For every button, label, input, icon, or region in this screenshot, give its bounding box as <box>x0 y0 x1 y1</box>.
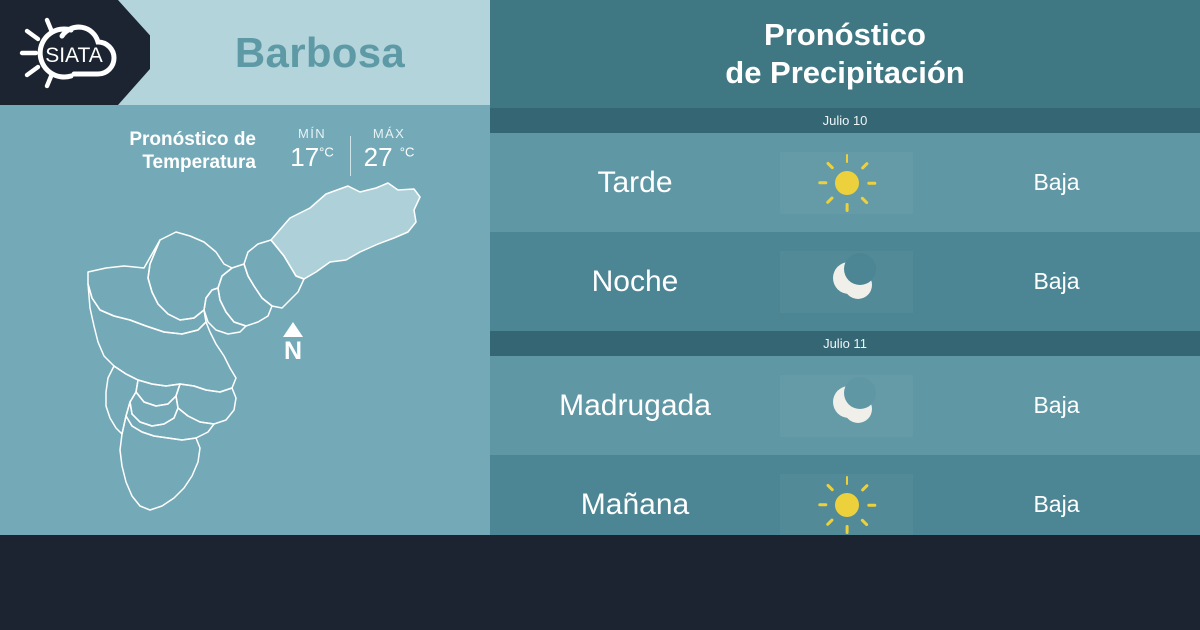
left-header: SIATA Barbosa <box>0 0 490 105</box>
precipitation-panel: Pronóstico de Precipitación Julio 10 Tar… <box>490 0 1200 535</box>
siata-logo-badge: SIATA <box>0 0 150 105</box>
map-region-sabaneta <box>130 392 178 426</box>
aburra-valley-map <box>58 180 458 530</box>
temperature-values: MÍN 17°C MÁX 27 °C <box>276 124 425 176</box>
forecast-row: Madrugada Baja <box>490 356 1200 455</box>
map-region-medellin <box>88 284 236 392</box>
north-label: N <box>284 338 302 364</box>
forecast-title-line2: de Precipitación <box>725 54 964 92</box>
forecast-level: Baja <box>913 169 1200 196</box>
sun-cloud-icon: SIATA <box>14 12 132 94</box>
footer: @siatamedellin www.siata.gov.co Con el a… <box>0 535 1200 630</box>
weather-infographic: SIATA Barbosa Pronóstico de Temperatura … <box>0 0 1200 630</box>
temperature-summary: Pronóstico de Temperatura MÍN 17°C MÁX 2… <box>60 124 440 182</box>
forecast-icon-cell <box>780 474 913 536</box>
left-panel: SIATA Barbosa Pronóstico de Temperatura … <box>0 0 490 535</box>
forecast-period: Mañana <box>490 488 780 522</box>
forecast-period: Noche <box>490 265 780 299</box>
temperature-min-label: MÍN <box>298 126 326 141</box>
moon-icon <box>816 375 878 437</box>
forecast-icon-cell <box>780 375 913 437</box>
forecast-title-line1: Pronóstico <box>764 16 926 54</box>
date-band-day2: Julio 11 <box>490 331 1200 356</box>
temperature-min: MÍN 17°C <box>276 126 348 176</box>
temperature-title-line2: Temperatura <box>142 152 256 173</box>
temperature-max-label: MÁX <box>373 126 405 141</box>
forecast-row: Tarde Baja <box>490 133 1200 232</box>
forecast-level: Baja <box>913 392 1200 419</box>
north-arrow-icon: N <box>275 322 311 374</box>
map-region-barbosa <box>271 183 420 279</box>
temperature-max-value: 27 °C <box>364 142 415 173</box>
date-band-day1: Julio 10 <box>490 108 1200 133</box>
logo-text: SIATA <box>45 44 103 67</box>
moon-icon <box>816 251 878 313</box>
forecast-level: Baja <box>913 268 1200 295</box>
forecast-row: Noche Baja <box>490 232 1200 331</box>
temperature-title: Pronóstico de Temperatura <box>60 124 256 174</box>
temperature-divider <box>350 136 351 176</box>
forecast-period: Tarde <box>490 166 780 200</box>
forecast-icon-cell <box>780 152 913 214</box>
map-region-envigado <box>176 384 236 424</box>
forecast-icon-cell <box>780 251 913 313</box>
page-title: Barbosa <box>150 0 490 105</box>
map-region-caldas-north <box>126 402 214 440</box>
sun-icon <box>816 474 878 536</box>
map-region-caldas <box>120 416 200 510</box>
sun-icon <box>816 152 878 214</box>
map-region-barbosa-west <box>204 288 246 334</box>
forecast-level: Baja <box>913 491 1200 518</box>
map-region-itagui <box>136 380 180 406</box>
map-region-northwest <box>88 240 206 334</box>
temperature-min-value: 17°C <box>290 142 334 173</box>
temperature-title-line1: Pronóstico de <box>129 129 256 150</box>
temperature-max: MÁX 27 °C <box>353 126 425 176</box>
forecast-title: Pronóstico de Precipitación <box>490 0 1200 108</box>
forecast-period: Madrugada <box>490 389 780 423</box>
map-region-la-estrella <box>106 366 138 434</box>
